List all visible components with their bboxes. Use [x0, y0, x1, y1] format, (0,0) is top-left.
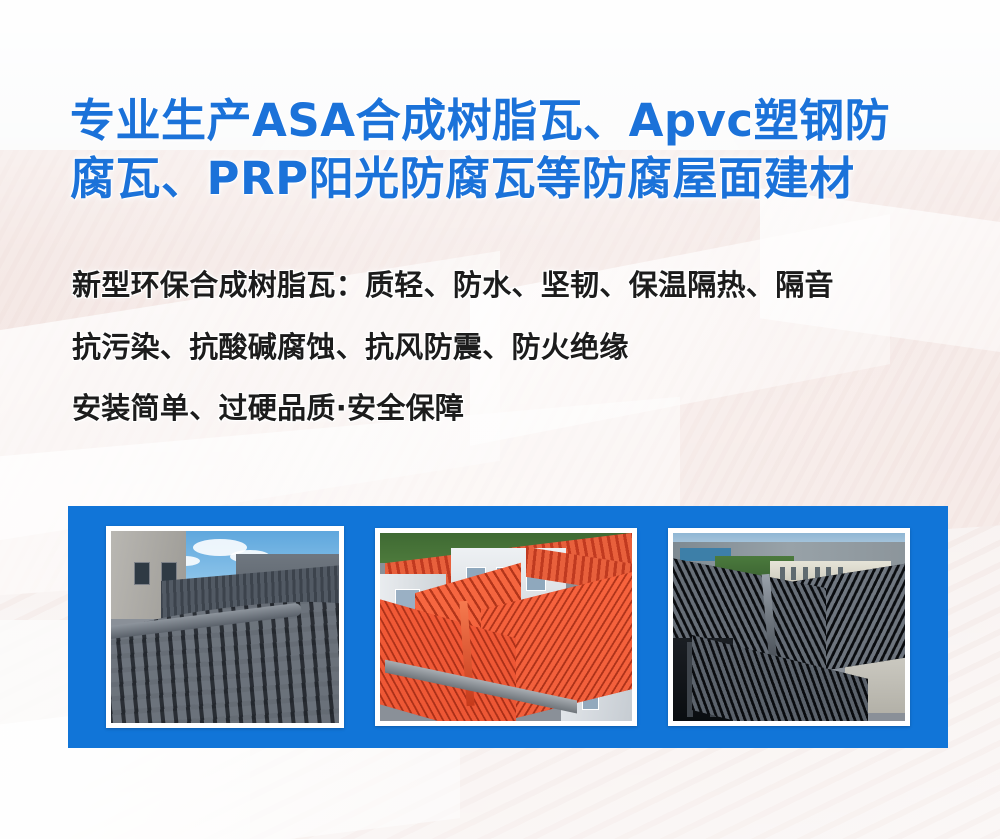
photo-gallery	[68, 506, 948, 748]
banner-content: 专业生产ASA合成树脂瓦、Apvc塑钢防 腐瓦、PRP阳光防腐瓦等防腐屋面建材 …	[0, 0, 1000, 839]
photo3-window	[780, 567, 785, 580]
photo3-window	[803, 567, 808, 580]
photo-image	[111, 531, 339, 723]
headline-line-1: 专业生产ASA合成树脂瓦、Apvc塑钢防	[70, 92, 950, 150]
photo-image	[380, 533, 632, 721]
subheadline: 新型环保合成树脂瓦：质轻、防水、坚韧、保温隔热、隔音 抗污染、抗酸碱腐蚀、抗风防…	[72, 270, 962, 424]
gallery-photo-red-resin-tile-hip-roofs	[375, 528, 637, 726]
gallery-photo-black-wave-tile-roofs-town	[668, 528, 910, 726]
headline: 专业生产ASA合成树脂瓦、Apvc塑钢防 腐瓦、PRP阳光防腐瓦等防腐屋面建材	[70, 92, 950, 208]
photo3-window	[791, 567, 796, 580]
headline-line-2: 腐瓦、PRP阳光防腐瓦等防腐屋面建材	[70, 150, 950, 208]
gallery-photo-grey-barrel-tile-roof-courtyard	[106, 526, 344, 728]
photo1-window	[134, 562, 150, 585]
subheadline-line-3: 安装简单、过硬品质·安全保障	[72, 393, 962, 424]
promo-banner: 专业生产ASA合成树脂瓦、Apvc塑钢防 腐瓦、PRP阳光防腐瓦等防腐屋面建材 …	[0, 0, 1000, 839]
photo-image	[673, 533, 905, 721]
subheadline-line-1: 新型环保合成树脂瓦：质轻、防水、坚韧、保温隔热、隔音	[72, 270, 962, 301]
subheadline-line-2: 抗污染、抗酸碱腐蚀、抗风防震、防火绝缘	[72, 332, 962, 363]
